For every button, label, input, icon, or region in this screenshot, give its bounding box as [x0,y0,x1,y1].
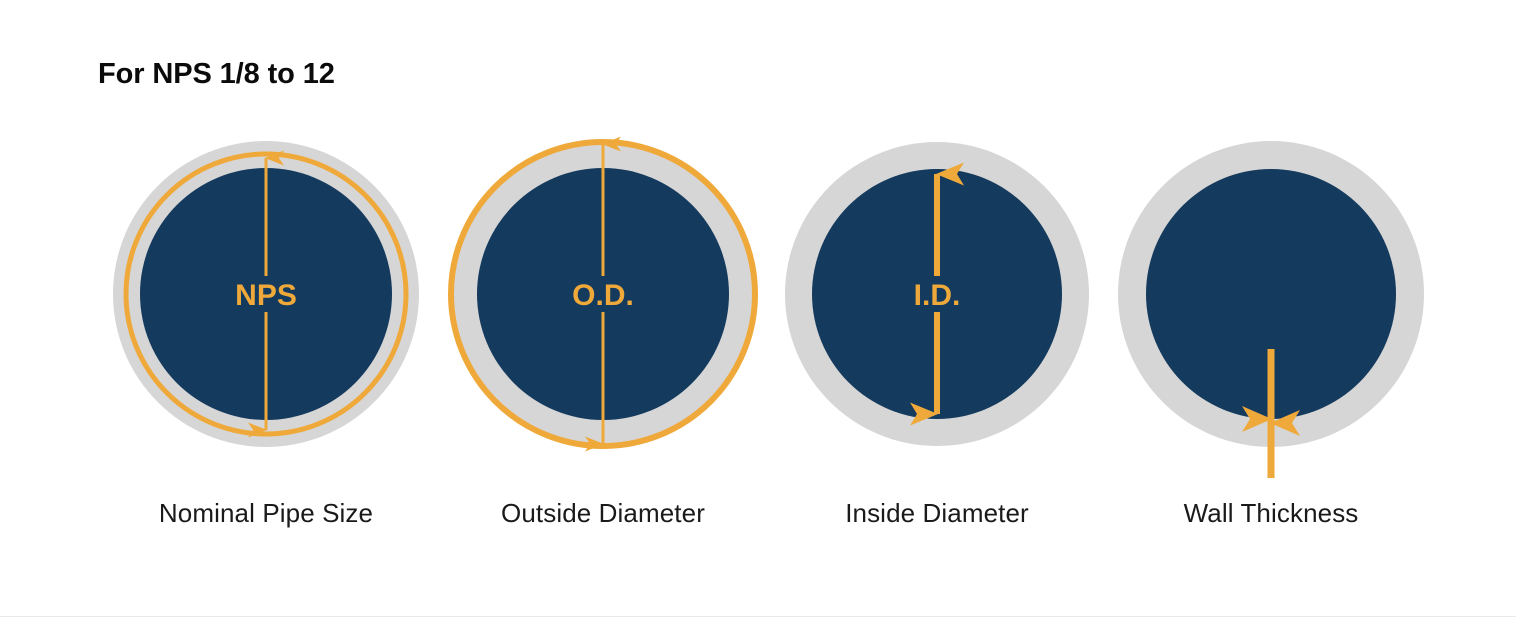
diagram-row: NPS [0,118,1516,478]
bottom-divider [0,616,1516,617]
od-illustration: O.D. [433,118,773,478]
diagram-id[interactable]: I.D. [767,118,1107,478]
caption-inside-diameter: Inside Diameter [767,498,1107,529]
caption-outside-diameter: Outside Diameter [433,498,773,529]
page-title: For NPS 1/8 to 12 [98,58,335,91]
diagram-nps[interactable]: NPS [96,118,436,478]
id-illustration: I.D. [767,118,1107,478]
wall-thickness-band [1268,417,1275,449]
caption-wall-thickness: Wall Thickness [1101,498,1441,529]
id-inner-label: I.D. [914,279,961,312]
od-inner-label: O.D. [572,279,634,312]
diagram-wall-thickness[interactable] [1101,118,1441,478]
wall-thickness-illustration [1101,118,1441,478]
diagram-od[interactable]: O.D. [433,118,773,478]
caption-nominal-pipe-size: Nominal Pipe Size [96,498,436,529]
pipe-dimension-diagram-page: For NPS 1/8 to 12 [0,0,1516,622]
caption-row: Nominal Pipe Size Outside Diameter Insid… [0,498,1516,546]
nps-inner-label: NPS [235,279,297,312]
nps-illustration: NPS [96,118,436,478]
